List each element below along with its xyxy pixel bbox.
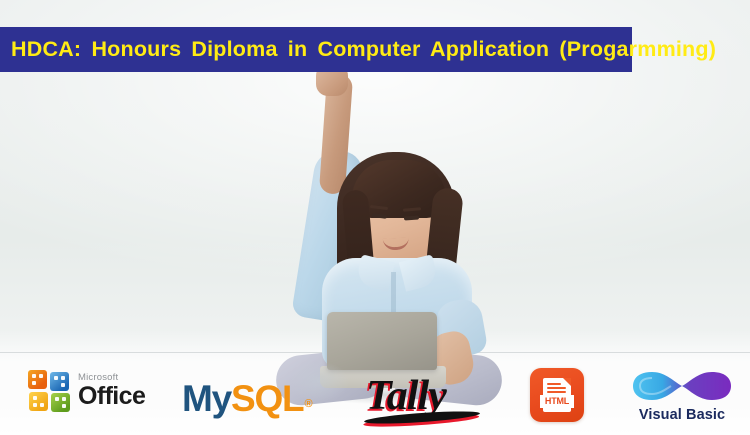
logo-visual-basic: Visual Basic: [626, 366, 738, 423]
html-page-fold: [563, 378, 571, 386]
course-banner-image: HDCA: Honours Diploma in Computer Applic…: [0, 0, 750, 435]
mysql-dolphin-watermark: [290, 360, 362, 408]
vb-wordmark: Visual Basic: [626, 366, 738, 423]
course-title: HDCA: Honours Diploma in Computer Applic…: [0, 37, 716, 62]
office-square-yellow: [29, 392, 48, 411]
office-square-green: [51, 393, 70, 412]
technology-logo-strip: Microsoft Office MySQL® Tally: [0, 360, 750, 435]
logo-mysql: MySQL®: [182, 378, 311, 420]
html-document-icon: HTML: [543, 378, 571, 412]
html-tile-icon: HTML: [530, 368, 584, 422]
tally-wordmark: Tally: [364, 372, 482, 424]
logo-microsoft-office: Microsoft Office: [28, 370, 145, 412]
html-text-line: [547, 383, 561, 385]
vb-label: Visual Basic: [626, 407, 738, 423]
office-squares-icon: [28, 370, 70, 412]
mysql-my-text: My: [182, 378, 231, 419]
office-square-blue: [50, 372, 69, 391]
office-square-orange: [28, 370, 47, 389]
title-banner: HDCA: Honours Diploma in Computer Applic…: [0, 27, 632, 72]
logo-tally: Tally: [364, 372, 482, 424]
office-wordmark: Microsoft Office: [78, 373, 145, 409]
html-text-line: [547, 387, 566, 389]
infinity-icon: [630, 366, 734, 406]
logo-html: HTML: [530, 368, 584, 422]
office-main-text: Office: [78, 384, 145, 409]
html-text-line: [547, 391, 566, 393]
html-label: HTML: [540, 395, 574, 408]
